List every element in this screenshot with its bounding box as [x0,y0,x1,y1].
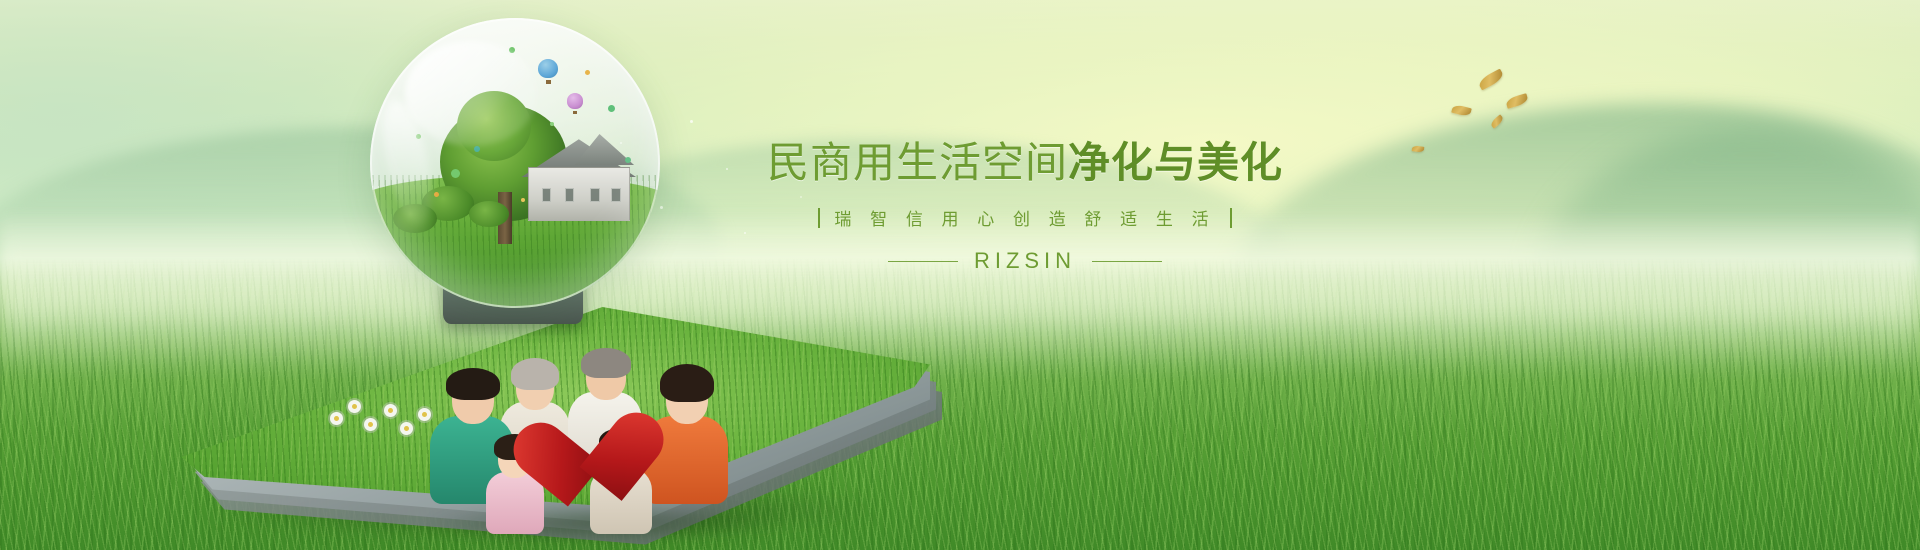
banner-subtitle: 瑞 智 信 用 心 创 造 舒 适 生 活 [760,205,1290,230]
glass-snow-globe [370,18,660,308]
heart-cushion-icon [533,415,646,521]
headline-light-part: 民商用生活空间 [767,139,1068,186]
hero-banner: 民商用生活空间净化与美化 瑞 智 信 用 心 创 造 舒 适 生 活 RIZSI… [0,0,1920,550]
daisy-icon [364,418,377,431]
banner-headline: 民商用生活空间净化与美化 [760,140,1290,185]
headline-bold-part: 净化与美化 [1068,139,1283,186]
daisy-icon [348,400,361,413]
brand-rule-right [1092,261,1162,262]
brand-rule-left [888,261,958,262]
brand-name: RIZSIN [974,248,1076,274]
banner-text-block: 民商用生活空间净化与美化 瑞 智 信 用 心 创 造 舒 适 生 活 RIZSI… [760,140,1290,274]
daisy-icon [384,404,397,417]
daisy-icon [400,422,413,435]
subtitle-bar-right-icon [1230,208,1232,228]
subtitle-bar-left-icon [818,208,820,228]
subtitle-words: 瑞 智 信 用 心 创 造 舒 适 生 活 [834,205,1215,230]
globe-rim [370,18,660,308]
banner-brandline: RIZSIN [760,248,1290,274]
daisy-icon [330,412,343,425]
family-group [418,323,788,538]
